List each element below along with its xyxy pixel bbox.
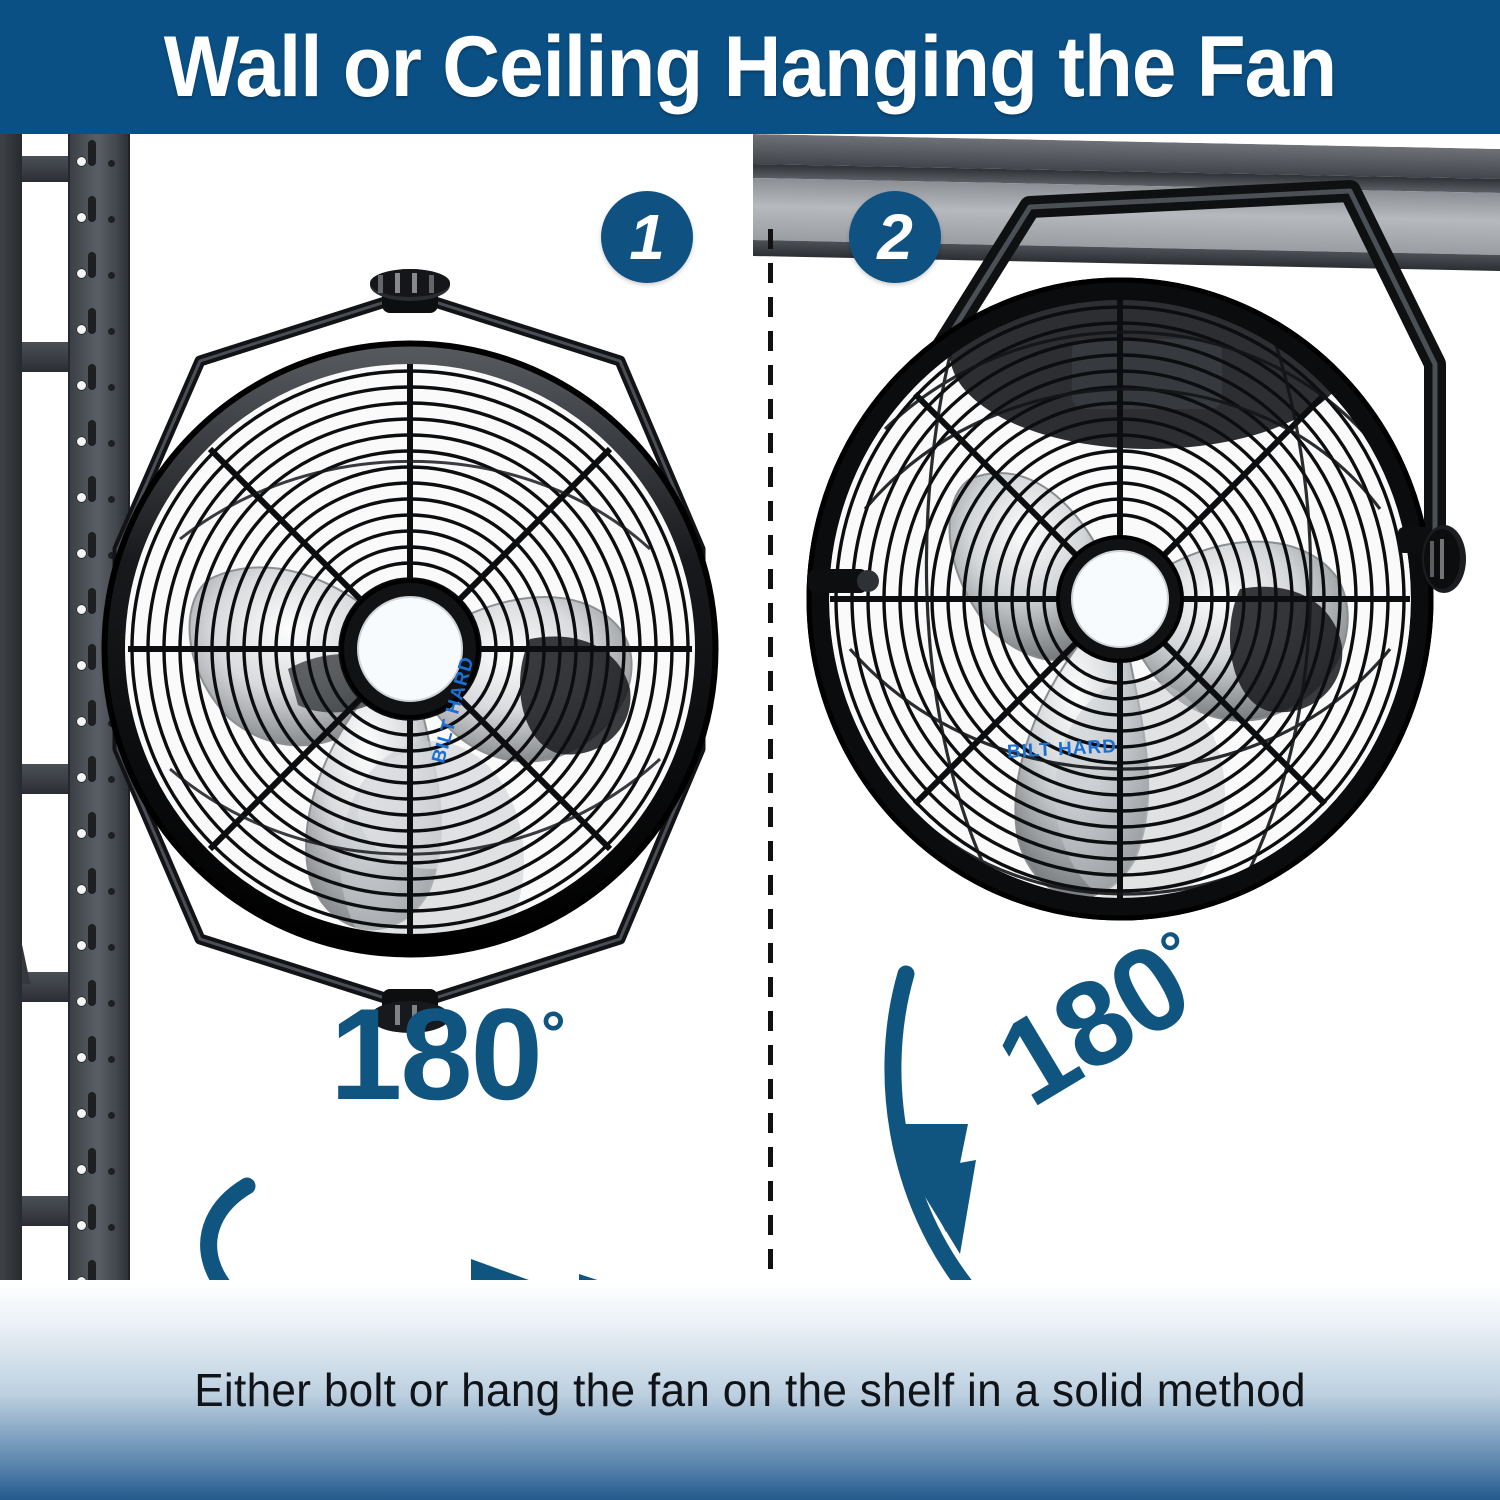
rack-slot [88,196,96,222]
rack-bolt-hole [76,212,87,223]
rotation-label-1: 180° [330,989,566,1119]
rack-slot [88,140,96,166]
page-title: Wall or Ceiling Hanging the Fan [53,0,1448,134]
rotation-value-1: 180 [330,981,541,1127]
rack-slot [88,1092,96,1118]
header-banner: Wall or Ceiling Hanging the Fan [0,0,1500,134]
step-badge-2: 2 [849,191,941,283]
rack-bolt-hole [76,1108,87,1119]
illustration-area: BILT HARD [0,134,1500,1280]
fan-hub-badge [358,597,462,701]
rack-rivet [108,1056,115,1063]
rack-rivet [108,1112,115,1119]
panel-divider [768,229,773,1280]
rack-back-post [0,134,22,1280]
rack-bolt-hole [76,1164,87,1175]
footer-caption: Either bolt or hang the fan on the shelf… [30,1280,1470,1500]
degree-symbol-1: ° [541,1000,566,1069]
rack-rivet [108,216,115,223]
left-pivot-boss [808,569,879,593]
rack-bolt-hole [76,1220,87,1231]
rack-rivet [108,1224,115,1231]
rack-slot [88,1204,96,1230]
rack-rivet [108,1168,115,1175]
fan-hub-badge [1072,551,1168,647]
infographic-root: Wall or Ceiling Hanging the Fan [0,0,1500,1500]
rack-bolt-hole [76,156,87,167]
step-badge-1: 1 [601,191,693,283]
fan-unit-ceiling-mounted [790,179,1470,979]
footer-banner: Either bolt or hang the fan on the shelf… [0,1280,1500,1500]
rack-slot [88,1148,96,1174]
fan-unit-wall-mounted [60,249,760,1049]
rack-slot [88,1260,96,1280]
rack-rivet [108,160,115,167]
rack-bolt-hole [76,1052,87,1063]
rotation-arrow-horizontal [175,1154,695,1280]
